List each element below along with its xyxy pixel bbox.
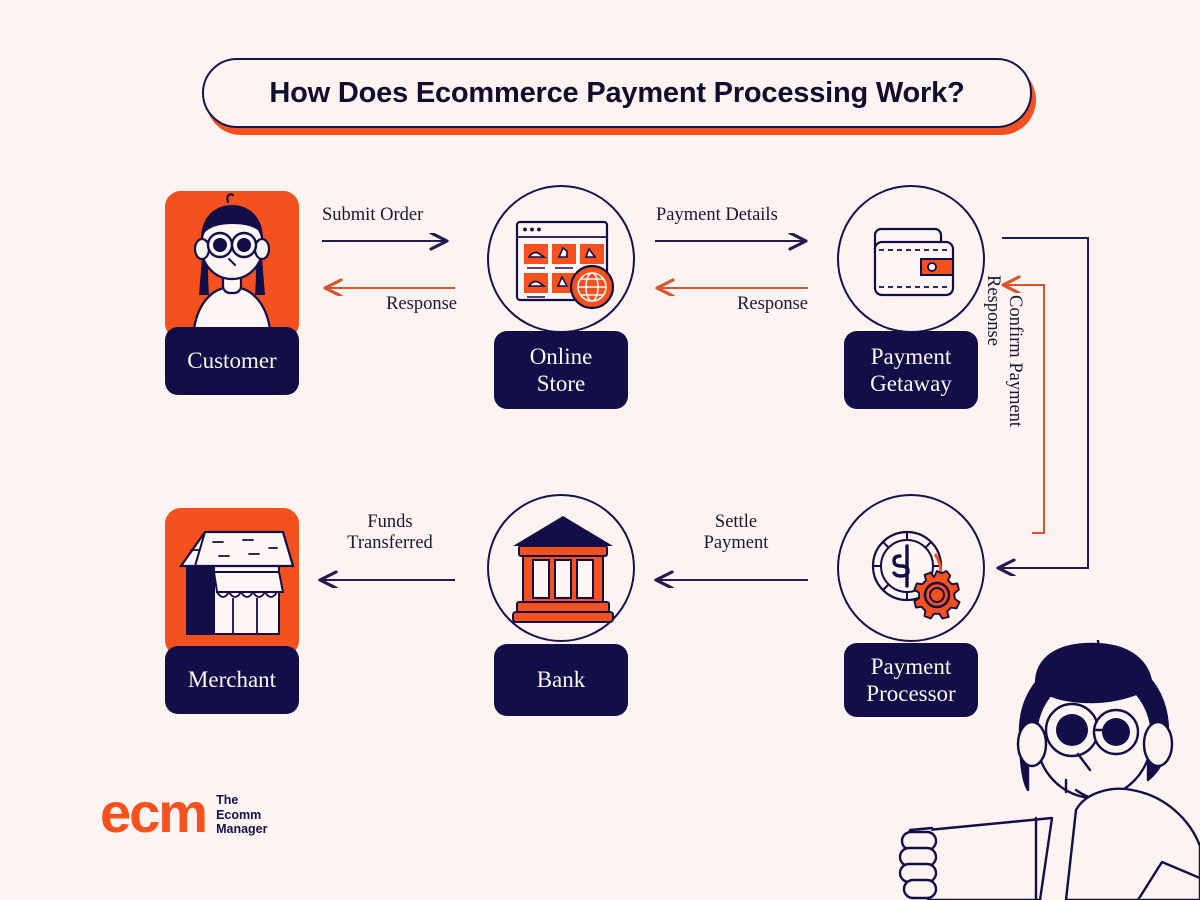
title-banner: How Does Ecommerce Payment Processing Wo… [202,58,1036,136]
dollar-gear-icon [839,496,987,644]
edge-label-settle-payment: Settle Payment [660,512,812,553]
person-avatar-icon [165,191,299,339]
person-reading-document-illustration [880,640,1200,900]
online-store-icon [489,187,637,335]
logo-wordmark: ecm [100,788,206,838]
node-label-bank: Bank [494,644,628,716]
edge-label-payment-details: Payment Details [656,205,778,226]
online-store-circle [487,185,635,333]
payment-gateway-circle [837,185,985,333]
logo-tagline: The Ecomm Manager [216,789,267,837]
node-label-customer: Customer [165,327,299,395]
bank-circle [487,494,635,642]
edge-label-submit-order: Submit Order [322,205,423,226]
node-label-payment-gateway: Payment Getaway [844,331,978,409]
merchant-icon-tile [165,508,299,656]
ecm-logo[interactable]: ecm The Ecomm Manager [100,788,268,838]
title-banner-pill: How Does Ecommerce Payment Processing Wo… [202,58,1032,128]
payment-processor-circle [837,494,985,642]
storefront-icon [165,508,299,656]
edge-label-funds-transferred: Funds Transferred [312,512,468,553]
edge-label-confirm-payment: Confirm Payment [1004,295,1025,495]
wallet-icon [839,187,987,335]
infographic-canvas: How Does Ecommerce Payment Processing Wo… [0,0,1200,900]
page-title: How Does Ecommerce Payment Processing Wo… [269,77,964,110]
edge-label-response-2: Response [650,294,808,315]
node-label-merchant: Merchant [165,646,299,714]
node-label-online-store: Online Store [494,331,628,409]
edge-label-response-1: Response [305,294,457,315]
customer-icon-tile [165,191,299,339]
bank-building-icon [489,496,637,644]
